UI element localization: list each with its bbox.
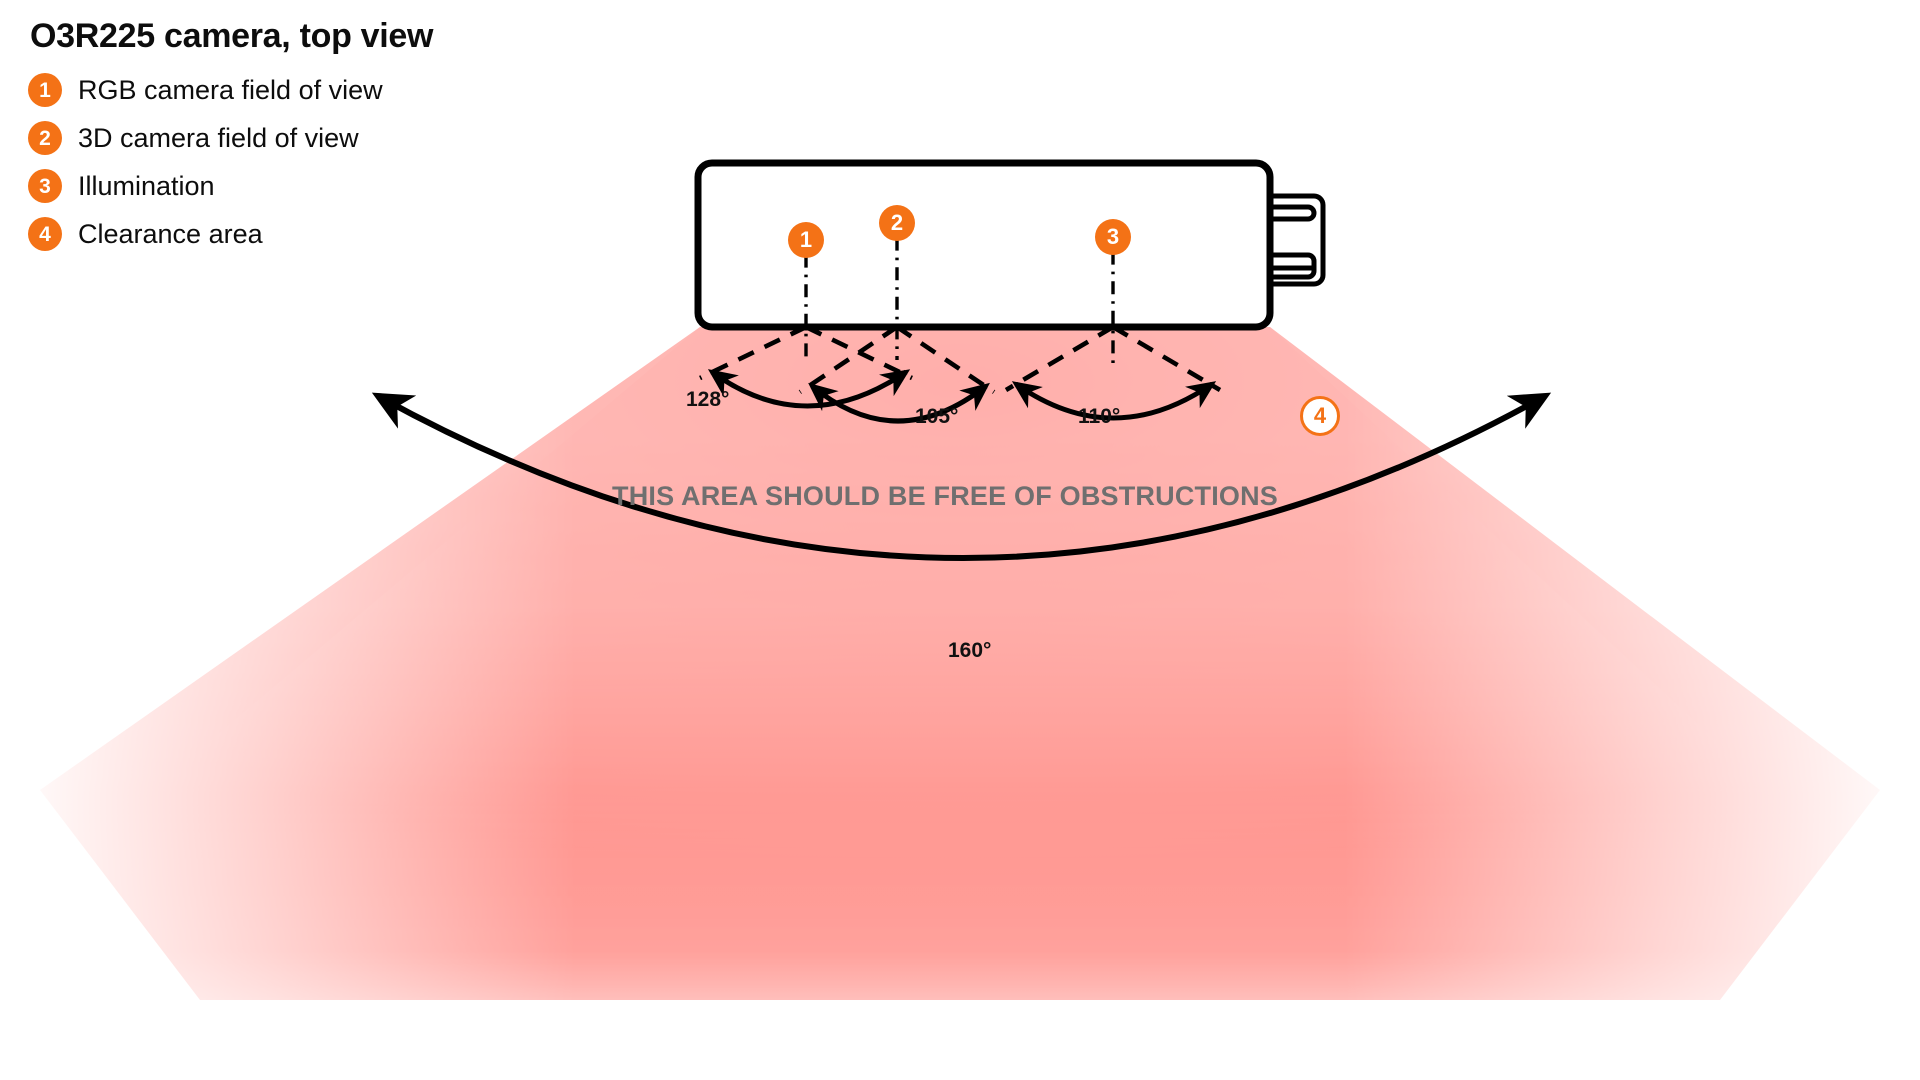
- legend-badge-3: 3: [28, 169, 62, 203]
- callout-badge-clearance-area[interactable]: 4: [1300, 396, 1340, 436]
- diagram-canvas: O3R225 camera, top view 1 RGB camera fie…: [0, 0, 1920, 1080]
- obstruction-note: THIS AREA SHOULD BE FREE OF OBSTRUCTIONS: [612, 481, 1278, 512]
- callout-badge-3d-camera[interactable]: 2: [879, 205, 915, 241]
- legend-badge-4: 4: [28, 217, 62, 251]
- camera-connector: [1270, 196, 1323, 284]
- legend-label-4: Clearance area: [78, 219, 263, 250]
- legend-item-illumination[interactable]: 3 Illumination: [28, 169, 433, 203]
- angle-label-illumination-fov: 110°: [1078, 405, 1120, 429]
- legend: O3R225 camera, top view 1 RGB camera fie…: [28, 18, 433, 265]
- clearance-area-shape: [0, 300, 1920, 1080]
- angle-label-rgb-fov: 128°: [686, 388, 729, 412]
- legend-badge-2: 2: [28, 121, 62, 155]
- legend-item-rgb-camera[interactable]: 1 RGB camera field of view: [28, 73, 433, 107]
- legend-item-3d-camera[interactable]: 2 3D camera field of view: [28, 121, 433, 155]
- angle-label-3d-fov: 105°: [915, 405, 958, 429]
- callout-badge-rgb-camera[interactable]: 1: [788, 222, 824, 258]
- legend-label-3: Illumination: [78, 171, 215, 202]
- callout-badge-illumination[interactable]: 3: [1095, 219, 1131, 255]
- legend-badge-1: 1: [28, 73, 62, 107]
- legend-label-2: 3D camera field of view: [78, 123, 359, 154]
- legend-label-1: RGB camera field of view: [78, 75, 383, 106]
- page-title: O3R225 camera, top view: [30, 18, 433, 55]
- legend-item-clearance-area[interactable]: 4 Clearance area: [28, 217, 433, 251]
- angle-label-clearance-fov: 160°: [948, 639, 991, 663]
